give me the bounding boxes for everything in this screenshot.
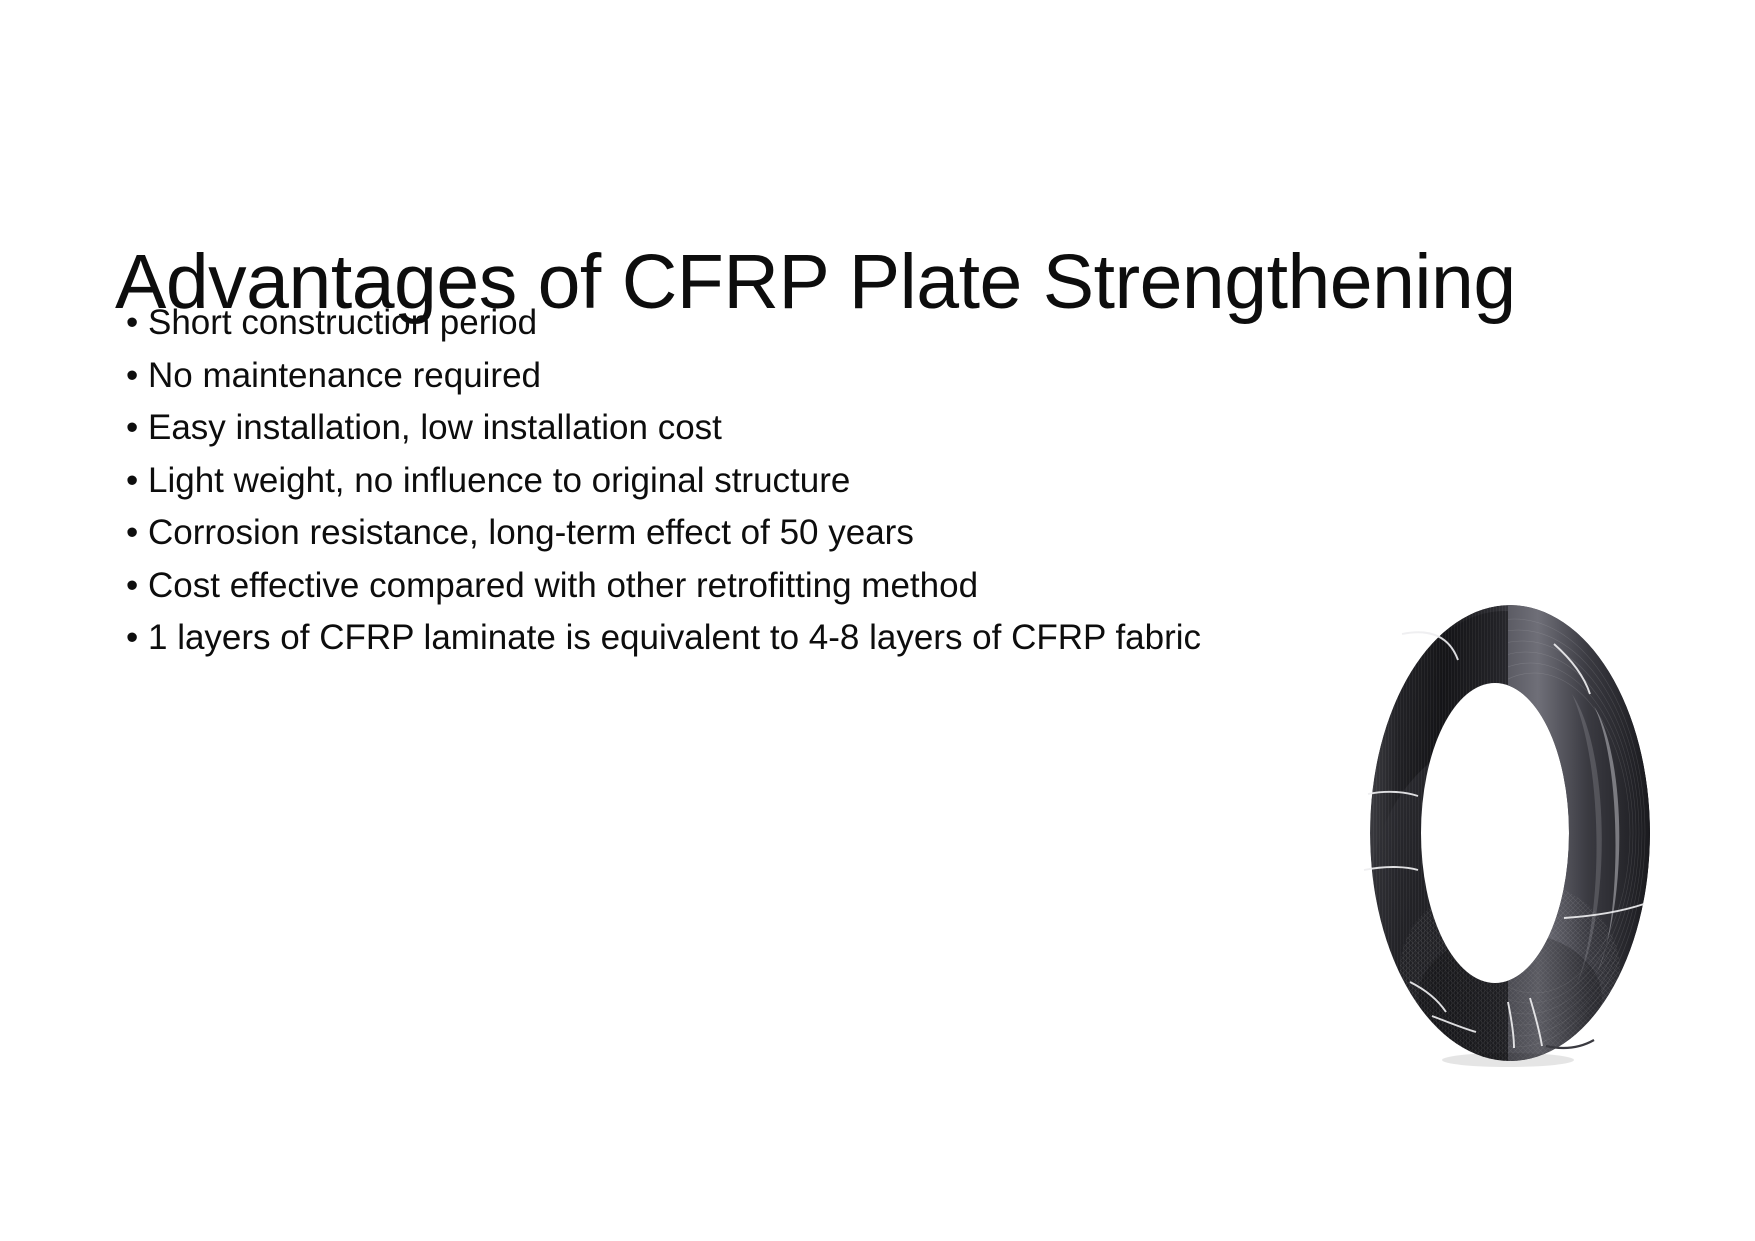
list-item: • Easy installation, low installation co… (126, 410, 1246, 444)
bullet-icon: • (126, 568, 148, 603)
list-item: • Short construction period (126, 305, 1246, 339)
bullet-icon: • (126, 410, 148, 445)
coil-shadow (1442, 1053, 1574, 1067)
bullet-icon: • (126, 620, 148, 655)
bullet-icon: • (126, 305, 148, 340)
coil-illustration (1358, 598, 1658, 1068)
list-item: • 1 layers of CFRP laminate is equivalen… (126, 620, 1246, 654)
list-item: • No maintenance required (126, 358, 1246, 392)
cfrp-coil-image (1358, 598, 1658, 1068)
list-item-label: 1 layers of CFRP laminate is equivalent … (148, 620, 1246, 655)
advantages-bullet-list: • Short construction period • No mainten… (126, 305, 1246, 673)
list-item-label: Cost effective compared with other retro… (148, 568, 1246, 603)
slide-canvas: Advantages of CFRP Plate Strengthening •… (0, 0, 1755, 1241)
list-item: • Corrosion resistance, long-term effect… (126, 515, 1246, 549)
list-item: • Light weight, no influence to original… (126, 463, 1246, 497)
list-item-label: Corrosion resistance, long-term effect o… (148, 515, 1246, 550)
list-item: • Cost effective compared with other ret… (126, 568, 1246, 602)
bullet-icon: • (126, 358, 148, 393)
bullet-icon: • (126, 515, 148, 550)
list-item-label: Light weight, no influence to original s… (148, 463, 1246, 498)
list-item-label: No maintenance required (148, 358, 1246, 393)
list-item-label: Easy installation, low installation cost (148, 410, 1246, 445)
bullet-icon: • (126, 463, 148, 498)
list-item-label: Short construction period (148, 305, 1246, 340)
